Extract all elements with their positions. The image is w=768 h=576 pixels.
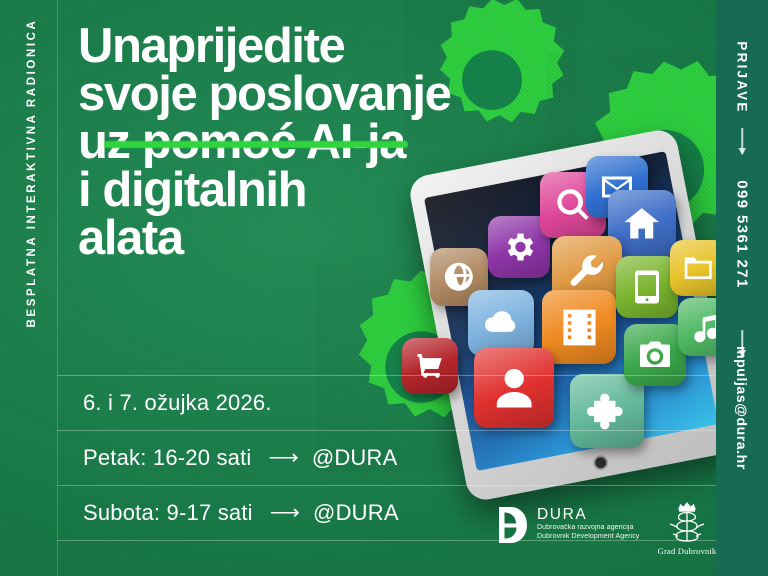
home-icon [622,204,661,243]
dura-subtitle-en: Dubrovnik Development Agency [537,532,639,541]
dura-logo: DURA Dubrovačka razvojna agencija Dubrov… [498,506,639,544]
dura-logo-text: DURA Dubrovačka razvojna agencija Dubrov… [537,506,639,541]
detail-venue: @DURA [313,500,399,526]
dura-d-logo-icon [498,506,528,544]
headline-line-1: Unaprijedite [78,22,508,70]
headline-underline-accent [104,141,408,148]
arrow-down-icon [741,128,743,154]
detail-text: Petak: 16-20 sati [83,445,252,471]
app-tile-film [542,290,616,364]
dura-subtitle-hr: Dubrovačka razvojna agencija [537,523,639,532]
cloud-icon [482,304,520,342]
workshop-kicker-label: BESPLATNA INTERAKTIVNA RADIONICA [26,8,38,338]
signup-phone[interactable]: 099 5361 271 [734,180,751,289]
detail-row: 6. i 7. ožujka 2026. [57,375,717,430]
dura-name: DURA [537,507,639,523]
tablet-icon [629,269,665,305]
arrow-right-icon: ⟶ [269,445,299,470]
grid-line-horizontal [57,375,717,376]
poster-root: Unaprijedite svoje poslovanje uz pomoć A… [0,0,768,576]
dubrovnik-coat-of-arms-icon [664,500,710,544]
app-tile-tablet [616,256,678,318]
signup-rail: PRIJAVE 099 5361 271 mpuljas@dura.hr [716,0,768,576]
signup-email[interactable]: mpuljas@dura.hr [734,346,750,470]
headline-line-4: i digitalnih [78,166,508,214]
footer-logos: DURA Dubrovačka razvojna agencija Dubrov… [498,500,718,566]
detail-row: Petak: 16-20 sati⟶@DURA [57,430,717,485]
detail-text: 6. i 7. ožujka 2026. [83,390,272,416]
film-icon [558,306,601,349]
camera-icon [637,337,673,373]
globe-icon [442,260,476,294]
signup-heading: PRIJAVE [735,41,750,113]
arrow-right-icon: ⟶ [270,500,300,525]
headline-line-2: svoje poslovanje [78,70,508,118]
left-rail: BESPLATNA INTERAKTIVNA RADIONICA [0,0,57,576]
grad-dubrovnik-logo: Grad Dubrovnik [656,500,718,556]
wrench-icon [567,251,608,292]
grid-line-horizontal [57,430,717,431]
app-tile-cloud [468,290,534,356]
grid-line-horizontal [57,485,717,486]
headline-line-5: alata [78,214,508,262]
detail-text: Subota: 9-17 sati [83,500,253,526]
detail-venue: @DURA [312,445,398,471]
folder-icon [682,252,714,284]
grad-dubrovnik-name: Grad Dubrovnik [656,546,718,556]
